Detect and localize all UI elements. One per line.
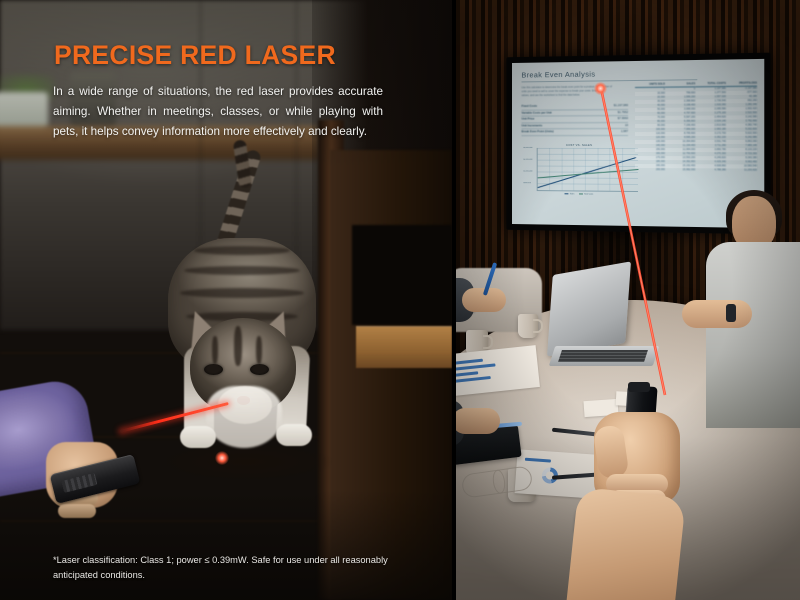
device-tip	[628, 382, 650, 392]
hand-holding-laser-pointer	[0, 386, 124, 536]
chart-title: COST VS. SALES	[521, 143, 637, 147]
slide-line-chart: COST VS. SALES	[521, 143, 637, 205]
legend-item-sales: Sales	[565, 193, 574, 195]
laptop-screen	[547, 261, 631, 356]
page-title: PRECISE RED LASER	[54, 40, 336, 71]
cat-paw-right	[276, 424, 312, 446]
input-label: Break Even Point (Units)	[521, 129, 553, 134]
cat-stripe	[180, 288, 304, 298]
wristwatch	[726, 304, 736, 322]
finger	[58, 504, 96, 518]
y-tick: $3,500,000	[523, 147, 532, 149]
panel-divider	[452, 0, 456, 600]
cat-paw-left	[180, 426, 216, 448]
input-label: Variable Costs per Unit	[521, 110, 551, 116]
y-tick: $500,000	[523, 182, 531, 184]
laser-dot	[594, 82, 607, 95]
y-tick: $2,500,000	[523, 159, 532, 161]
laser-dot	[215, 451, 229, 465]
table-row: 200,00015,992,0004,788,38011,203,620	[635, 168, 757, 173]
input-value: 1,987	[621, 129, 628, 135]
cat	[150, 150, 340, 490]
forearm	[566, 487, 686, 600]
input-value: $7.9960	[618, 116, 628, 122]
cat-face-stripe	[212, 336, 218, 364]
input-label: Unit Increments	[521, 123, 542, 128]
slide-input-row-breakeven: Break Even Point (Units) 1,987	[521, 129, 628, 136]
input-value: 10	[625, 123, 628, 129]
coffee-mug	[518, 314, 538, 338]
seated-person-left-lower	[456, 398, 516, 478]
cat-chest	[206, 386, 282, 448]
input-label: Unit Price	[521, 117, 534, 122]
cabinet-front	[330, 150, 452, 600]
cat-stripe	[194, 246, 290, 255]
cat-stripe	[184, 266, 300, 275]
presenter-hand-holding-laser-pointer	[584, 382, 704, 600]
clasped-hands	[682, 300, 752, 328]
laptop-keyboard	[558, 350, 648, 362]
chart-plot-area: $3,500,000 $2,500,000 $1,500,000 $500,00…	[537, 148, 638, 192]
product-feature-banner: Break Even Analysis Use this calculator …	[0, 0, 800, 600]
blazer	[706, 242, 800, 428]
cat-eye-left	[204, 364, 223, 375]
cat-face-stripe	[256, 336, 262, 364]
legend-item-total-costs: Total Costs	[579, 193, 593, 195]
hand	[456, 408, 500, 434]
cat-eye-right	[250, 364, 269, 375]
right-photo-meeting-room: Break Even Analysis Use this calculator …	[456, 0, 800, 600]
table-cell: 4,788,380	[695, 169, 726, 173]
table-cell: 15,992,000	[665, 169, 695, 173]
chart-legend: Sales Total Costs	[521, 193, 637, 196]
cat-face-stripe	[234, 326, 242, 366]
table-cell: 200,000	[635, 168, 665, 172]
cat-shadow	[156, 442, 336, 482]
table-cell: 11,203,620	[726, 169, 757, 173]
slide-title: Break Even Analysis	[521, 68, 696, 82]
table-body: 001,197,980-1,197,98010,000799,6001,377,…	[635, 86, 757, 173]
y-tick: $1,500,000	[523, 170, 532, 172]
slide-input-table: Fixed Costs $1,197,980 Variable Costs pe…	[521, 103, 628, 136]
seated-person-right	[704, 196, 800, 426]
input-value: $1,197,980	[614, 103, 628, 109]
seated-person-left-upper	[456, 262, 518, 332]
cabinet-recess	[352, 225, 452, 325]
device-grip	[62, 473, 98, 493]
wooden-drawer	[356, 326, 452, 368]
input-value: $1.7952	[618, 110, 628, 116]
body-copy: In a wide range of situations, the red l…	[53, 82, 383, 142]
footnote-disclaimer: *Laser classification: Class 1; power ≤ …	[53, 553, 413, 583]
input-label: Fixed Costs	[521, 104, 537, 110]
slide-data-table: UNITS SOLD SALES TOTAL COSTS PROFIT/LOSS…	[635, 82, 757, 174]
